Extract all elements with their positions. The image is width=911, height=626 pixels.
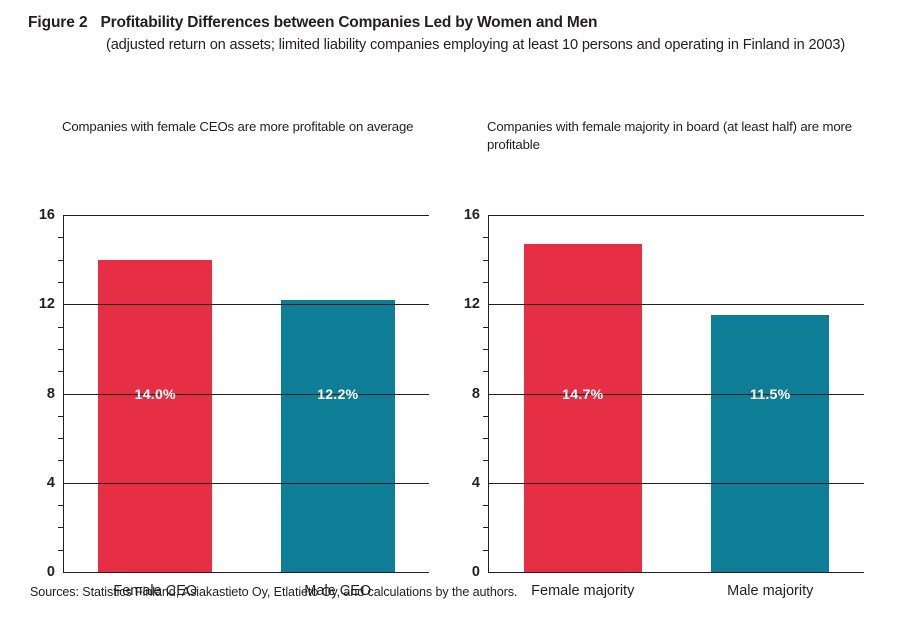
gridline [489,304,864,305]
figure-subtitle: (adjusted return on assets; limited liab… [106,35,888,56]
bar [524,244,642,572]
chart-caption-left: Companies with female CEOs are more prof… [62,118,444,158]
bar [98,260,212,572]
y-axis-minor-tick [58,327,64,328]
y-axis-minor-tick [58,527,64,528]
y-axis-minor-tick [58,260,64,261]
y-axis-minor-tick [483,371,489,372]
y-axis-tick-label: 16 [464,207,480,223]
figure-number: Figure 2 [28,14,88,32]
bar-chart-ceo: 048121614.0%Female CEO12.2%Male CEO [14,158,444,578]
gridline [64,215,429,216]
y-axis-minor-tick [483,416,489,417]
plot-area-left: 048121614.0%Female CEO12.2%Male CEO [63,215,429,573]
x-axis-tick-label: Female majority [531,583,634,599]
gridline [489,215,864,216]
y-axis-minor-tick [483,237,489,238]
y-axis-minor-tick [58,349,64,350]
y-axis-minor-tick [58,371,64,372]
y-axis-minor-tick [483,349,489,350]
y-axis-tick-label: 4 [47,475,55,491]
y-axis-minor-tick [58,416,64,417]
y-axis-minor-tick [483,282,489,283]
y-axis-minor-tick [483,460,489,461]
y-axis-tick-label: 8 [47,386,55,402]
plot-area-right: 048121614.7%Female majority11.5%Male maj… [488,215,864,573]
y-axis-minor-tick [58,460,64,461]
gridline [64,483,429,484]
y-axis-minor-tick [483,505,489,506]
bar-value-label: 12.2% [281,387,395,403]
y-axis-tick-label: 4 [472,475,480,491]
y-axis-minor-tick [483,527,489,528]
x-axis-tick-label: Male majority [727,583,813,599]
y-axis-minor-tick [483,550,489,551]
y-axis-tick-label: 16 [39,207,55,223]
y-axis-tick-label: 12 [39,296,55,312]
bar-value-label: 14.0% [98,387,212,403]
y-axis-minor-tick [483,327,489,328]
bar-chart-board: 048121614.7%Female majority11.5%Male maj… [444,158,889,578]
y-axis-tick-label: 0 [47,564,55,580]
chart-caption-right: Companies with female majority in board … [487,118,889,158]
gridline [64,304,429,305]
y-axis-tick-label: 12 [464,296,480,312]
y-axis-minor-tick [58,237,64,238]
bar-value-label: 11.5% [711,387,829,403]
y-axis-minor-tick [483,438,489,439]
y-axis-tick-label: 0 [472,564,480,580]
bar [281,300,395,572]
gridline [489,483,864,484]
chart-panel-left: Companies with female CEOs are more prof… [14,118,444,578]
page-title: Profitability Differences between Compan… [101,14,598,32]
figure-title-row: Figure 2 Profitability Differences betwe… [28,14,888,32]
y-axis-minor-tick [58,438,64,439]
figure-header: Figure 2 Profitability Differences betwe… [28,14,888,56]
y-axis-minor-tick [58,505,64,506]
y-axis-minor-tick [58,550,64,551]
bar-value-label: 14.7% [524,387,642,403]
source-note: Sources: Statistics Finland, Asiakastiet… [30,585,517,599]
bar [711,315,829,572]
y-axis-minor-tick [58,282,64,283]
y-axis-tick-label: 8 [472,386,480,402]
y-axis-minor-tick [483,260,489,261]
chart-panel-right: Companies with female majority in board … [444,118,889,578]
